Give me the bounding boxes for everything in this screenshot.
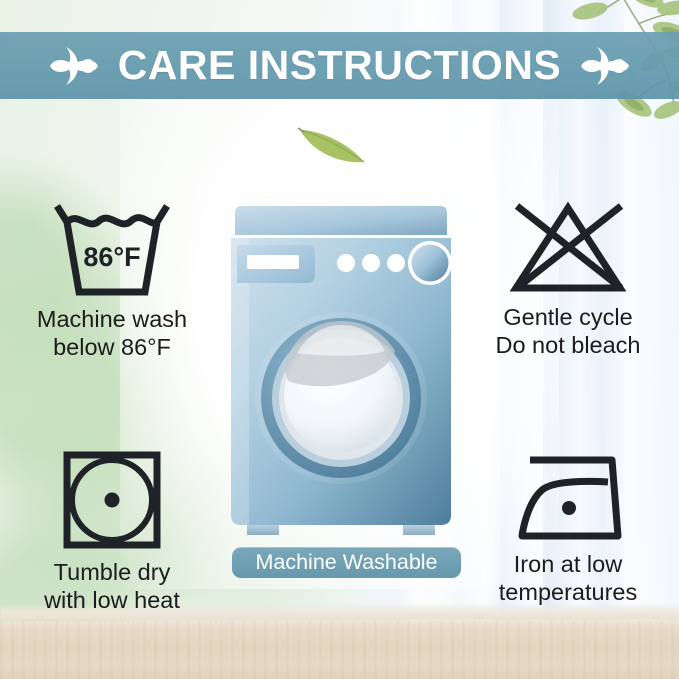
wooden-table-surface: [0, 621, 679, 679]
instruction-label: Machine wash below 86°F: [12, 306, 212, 361]
instruction-iron-low: Iron at low temperatures: [468, 452, 668, 606]
instruction-label: Iron at low temperatures: [468, 551, 668, 606]
iron-icon: [512, 452, 624, 542]
leaf-icon: [296, 120, 368, 168]
badge-label: Machine Washable: [255, 552, 437, 574]
page-title: CARE INSTRUCTIONS: [118, 45, 562, 86]
machine-washable-badge: Machine Washable: [232, 547, 461, 578]
tumble-dry-icon: [62, 450, 162, 550]
instruction-machine-wash: 86°F Machine wash below 86°F: [12, 200, 212, 361]
fleur-de-lis-icon: [48, 44, 100, 88]
header-banner: CARE INSTRUCTIONS: [0, 32, 679, 99]
instruction-no-bleach: Gentle cycle Do not bleach: [468, 200, 668, 359]
washing-machine-illustration: [225, 205, 457, 535]
instruction-label: Gentle cycle Do not bleach: [468, 304, 668, 359]
wash-tub-icon: 86°F: [47, 200, 177, 296]
instruction-label: Tumble dry with low heat: [12, 559, 212, 614]
wash-temp-value: 86°F: [83, 242, 140, 272]
fleur-de-lis-icon: [579, 44, 631, 88]
no-bleach-triangle-icon: [507, 200, 629, 294]
instruction-tumble-dry: Tumble dry with low heat: [12, 450, 212, 614]
care-instructions-graphic: CARE INSTRUCTIONS: [0, 0, 679, 679]
